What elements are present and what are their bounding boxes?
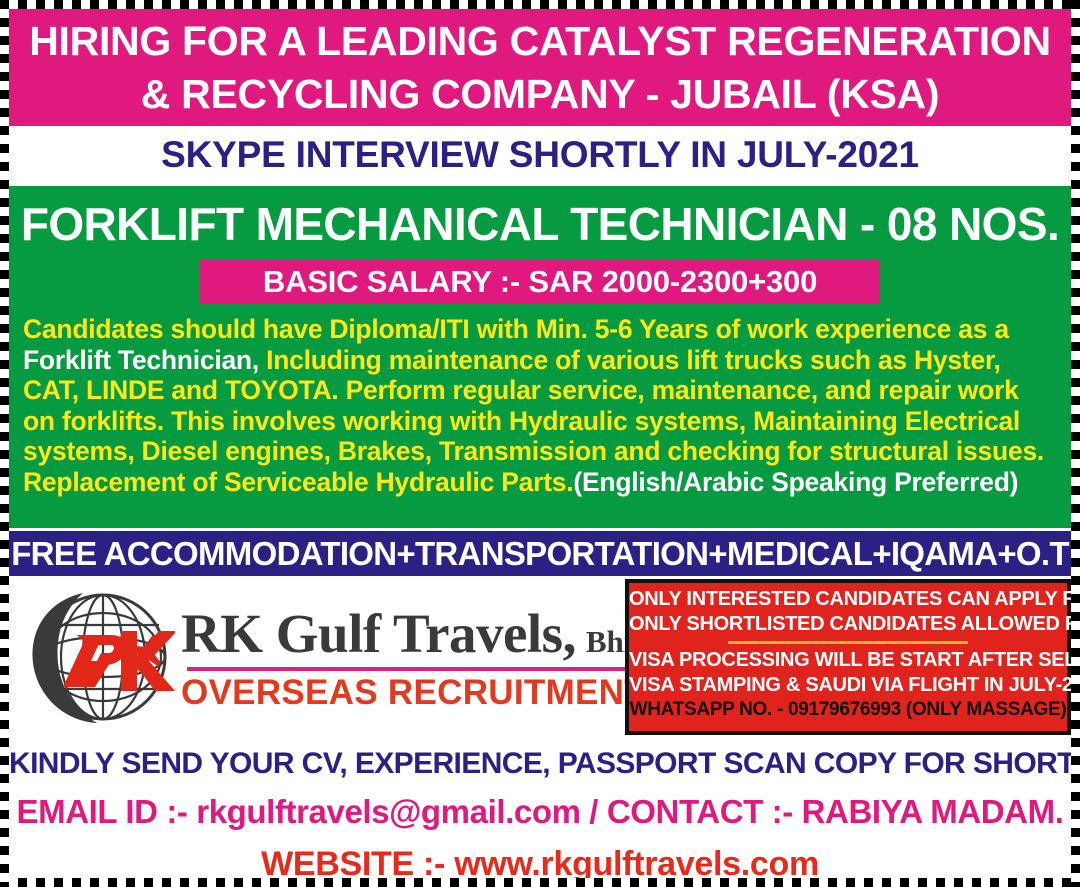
notice-line-2: ONLY SHORTLISTED CANDIDATES ALLOWED FOR … bbox=[629, 612, 1067, 637]
notice-line-3: VISA PROCESSING WILL BE START AFTER SELE… bbox=[629, 648, 1067, 673]
salary-badge: BASIC SALARY :- SAR 2000-2300+300 bbox=[200, 260, 880, 304]
notice-box: ONLY INTERESTED CANDIDATES CAN APPLY FOR… bbox=[625, 579, 1071, 735]
salary-badge-text: BASIC SALARY :- SAR 2000-2300+300 bbox=[263, 264, 817, 300]
agency-logo-panel: RK Gulf Travels, Bhilai OVERSEAS RECRUIT… bbox=[9, 579, 617, 735]
footer-website: WEBSITE :- www.rkgulftravels.com bbox=[9, 845, 1071, 884]
header-line-1: HIRING FOR A LEADING CATALYST REGENERATI… bbox=[29, 15, 1051, 68]
job-description-part1: Candidates should have Diploma/ITI with … bbox=[23, 314, 1009, 344]
globe-logo-icon bbox=[25, 583, 175, 731]
benefits-text: FREE ACCOMMODATION+TRANSPORTATION+MEDICA… bbox=[11, 535, 1069, 573]
header-banner: HIRING FOR A LEADING CATALYST REGENERATI… bbox=[9, 9, 1071, 126]
job-description-note: (English/Arabic Speaking Preferred) bbox=[573, 467, 1018, 497]
agency-name: RK Gulf Travels, bbox=[181, 602, 576, 665]
notice-divider bbox=[728, 641, 968, 644]
mid-section: RK Gulf Travels, Bhilai OVERSEAS RECRUIT… bbox=[9, 579, 1071, 735]
benefits-bar: FREE ACCOMMODATION+TRANSPORTATION+MEDICA… bbox=[9, 531, 1071, 576]
interview-banner: SKYPE INTERVIEW SHORTLY IN JULY-2021 bbox=[9, 126, 1071, 183]
recruitment-flyer: HIRING FOR A LEADING CATALYST REGENERATI… bbox=[0, 0, 1080, 887]
header-line-2: & RECYCLING COMPANY - JUBAIL (KSA) bbox=[141, 68, 939, 121]
job-description-highlight: Forklift Technician, bbox=[23, 345, 259, 375]
job-description: Candidates should have Diploma/ITI with … bbox=[23, 314, 1057, 497]
job-title: FORKLIFT MECHANICAL TECHNICIAN - 08 NOS. bbox=[9, 196, 1071, 252]
notice-line-4: VISA STAMPING & SAUDI VIA FLIGHT IN JULY… bbox=[629, 673, 1067, 698]
footer-contact: EMAIL ID :- rkgulftravels@gmail.com / CO… bbox=[9, 793, 1071, 831]
dashed-border-left bbox=[0, 0, 9, 887]
job-details-section: FORKLIFT MECHANICAL TECHNICIAN - 08 NOS.… bbox=[9, 183, 1071, 528]
notice-line-1: ONLY INTERESTED CANDIDATES CAN APPLY FOR… bbox=[629, 587, 1067, 612]
whatsapp-line: WHATSAPP NO. - 09179676993 (ONLY MASSAGE… bbox=[629, 698, 1067, 722]
footer-section: KINDLY SEND YOUR CV, EXPERIENCE, PASSPOR… bbox=[9, 737, 1071, 878]
interview-banner-text: SKYPE INTERVIEW SHORTLY IN JULY-2021 bbox=[161, 134, 919, 176]
dashed-border-top bbox=[0, 0, 1080, 9]
footer-instruction: KINDLY SEND YOUR CV, EXPERIENCE, PASSPOR… bbox=[9, 747, 1071, 781]
